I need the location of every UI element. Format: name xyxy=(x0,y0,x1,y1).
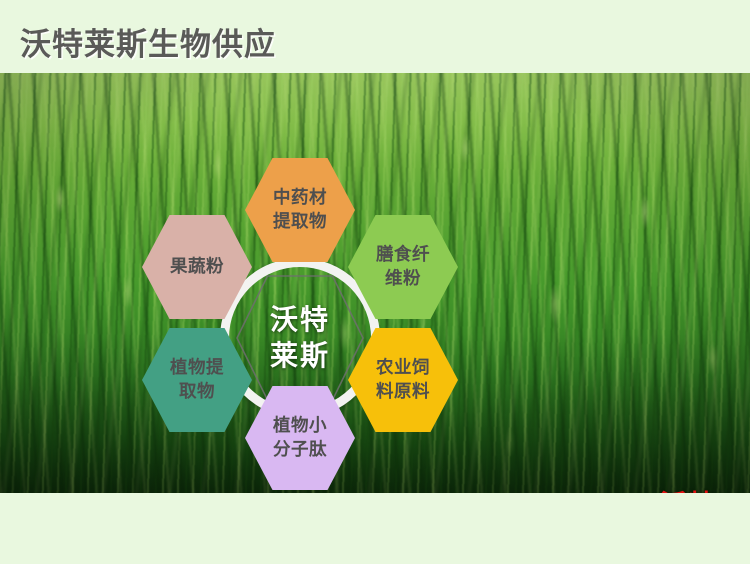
title-bar: 沃特莱斯生物供应 xyxy=(0,0,750,73)
hexagon-label-dietary-fiber-powder: 膳食纤 维粉 xyxy=(370,243,436,291)
hexagon-label-plant-small-molecule-peptide: 植物小 分子肽 xyxy=(267,414,333,462)
hexagon-line-2: 维粉 xyxy=(385,269,421,289)
page-title: 沃特莱斯生物供应 xyxy=(20,19,276,64)
slide-canvas: 沃特莱斯生物供应 沃特 莱斯 中药材 xyxy=(0,0,750,564)
hexagon-line-2: 取物 xyxy=(179,382,215,402)
grass-field-photo: 沃特 莱斯 中药材 提取物 膳食纤 维粉 农业饲 料原料 xyxy=(0,73,750,493)
hexagon-label-agricultural-feed-material: 农业饲 料原料 xyxy=(370,356,436,404)
hexagon-line-1: 植物小 xyxy=(273,416,327,436)
hexagon-label-fruit-vegetable-powder: 果蔬粉 xyxy=(164,255,230,279)
hexagon-line-1: 果蔬粉 xyxy=(170,257,224,277)
hexagon-line-2: 提取物 xyxy=(273,212,327,232)
hexagon-line-1: 农业饲 xyxy=(376,358,430,378)
hexagon-cluster-diagram: 沃特 莱斯 中药材 提取物 膳食纤 维粉 农业饲 料原料 xyxy=(130,158,475,493)
hexagon-label-plant-extract: 植物提 取物 xyxy=(164,356,230,404)
hexagon-tcm-extract[interactable]: 中药材 提取物 xyxy=(245,158,355,262)
hexagon-label-tcm-extract: 中药材 提取物 xyxy=(267,186,333,234)
hexagon-line-1: 膳食纤 xyxy=(376,245,430,265)
hexagon-line-1: 植物提 xyxy=(170,358,224,378)
hexagon-line-2: 料原料 xyxy=(376,382,430,402)
hexagon-line-2: 分子肽 xyxy=(273,440,327,460)
hexagon-line-1: 中药材 xyxy=(273,188,327,208)
footer-band xyxy=(0,493,750,564)
center-hexagon-outline-svg xyxy=(235,273,365,403)
center-hexagon-outline xyxy=(235,273,365,403)
